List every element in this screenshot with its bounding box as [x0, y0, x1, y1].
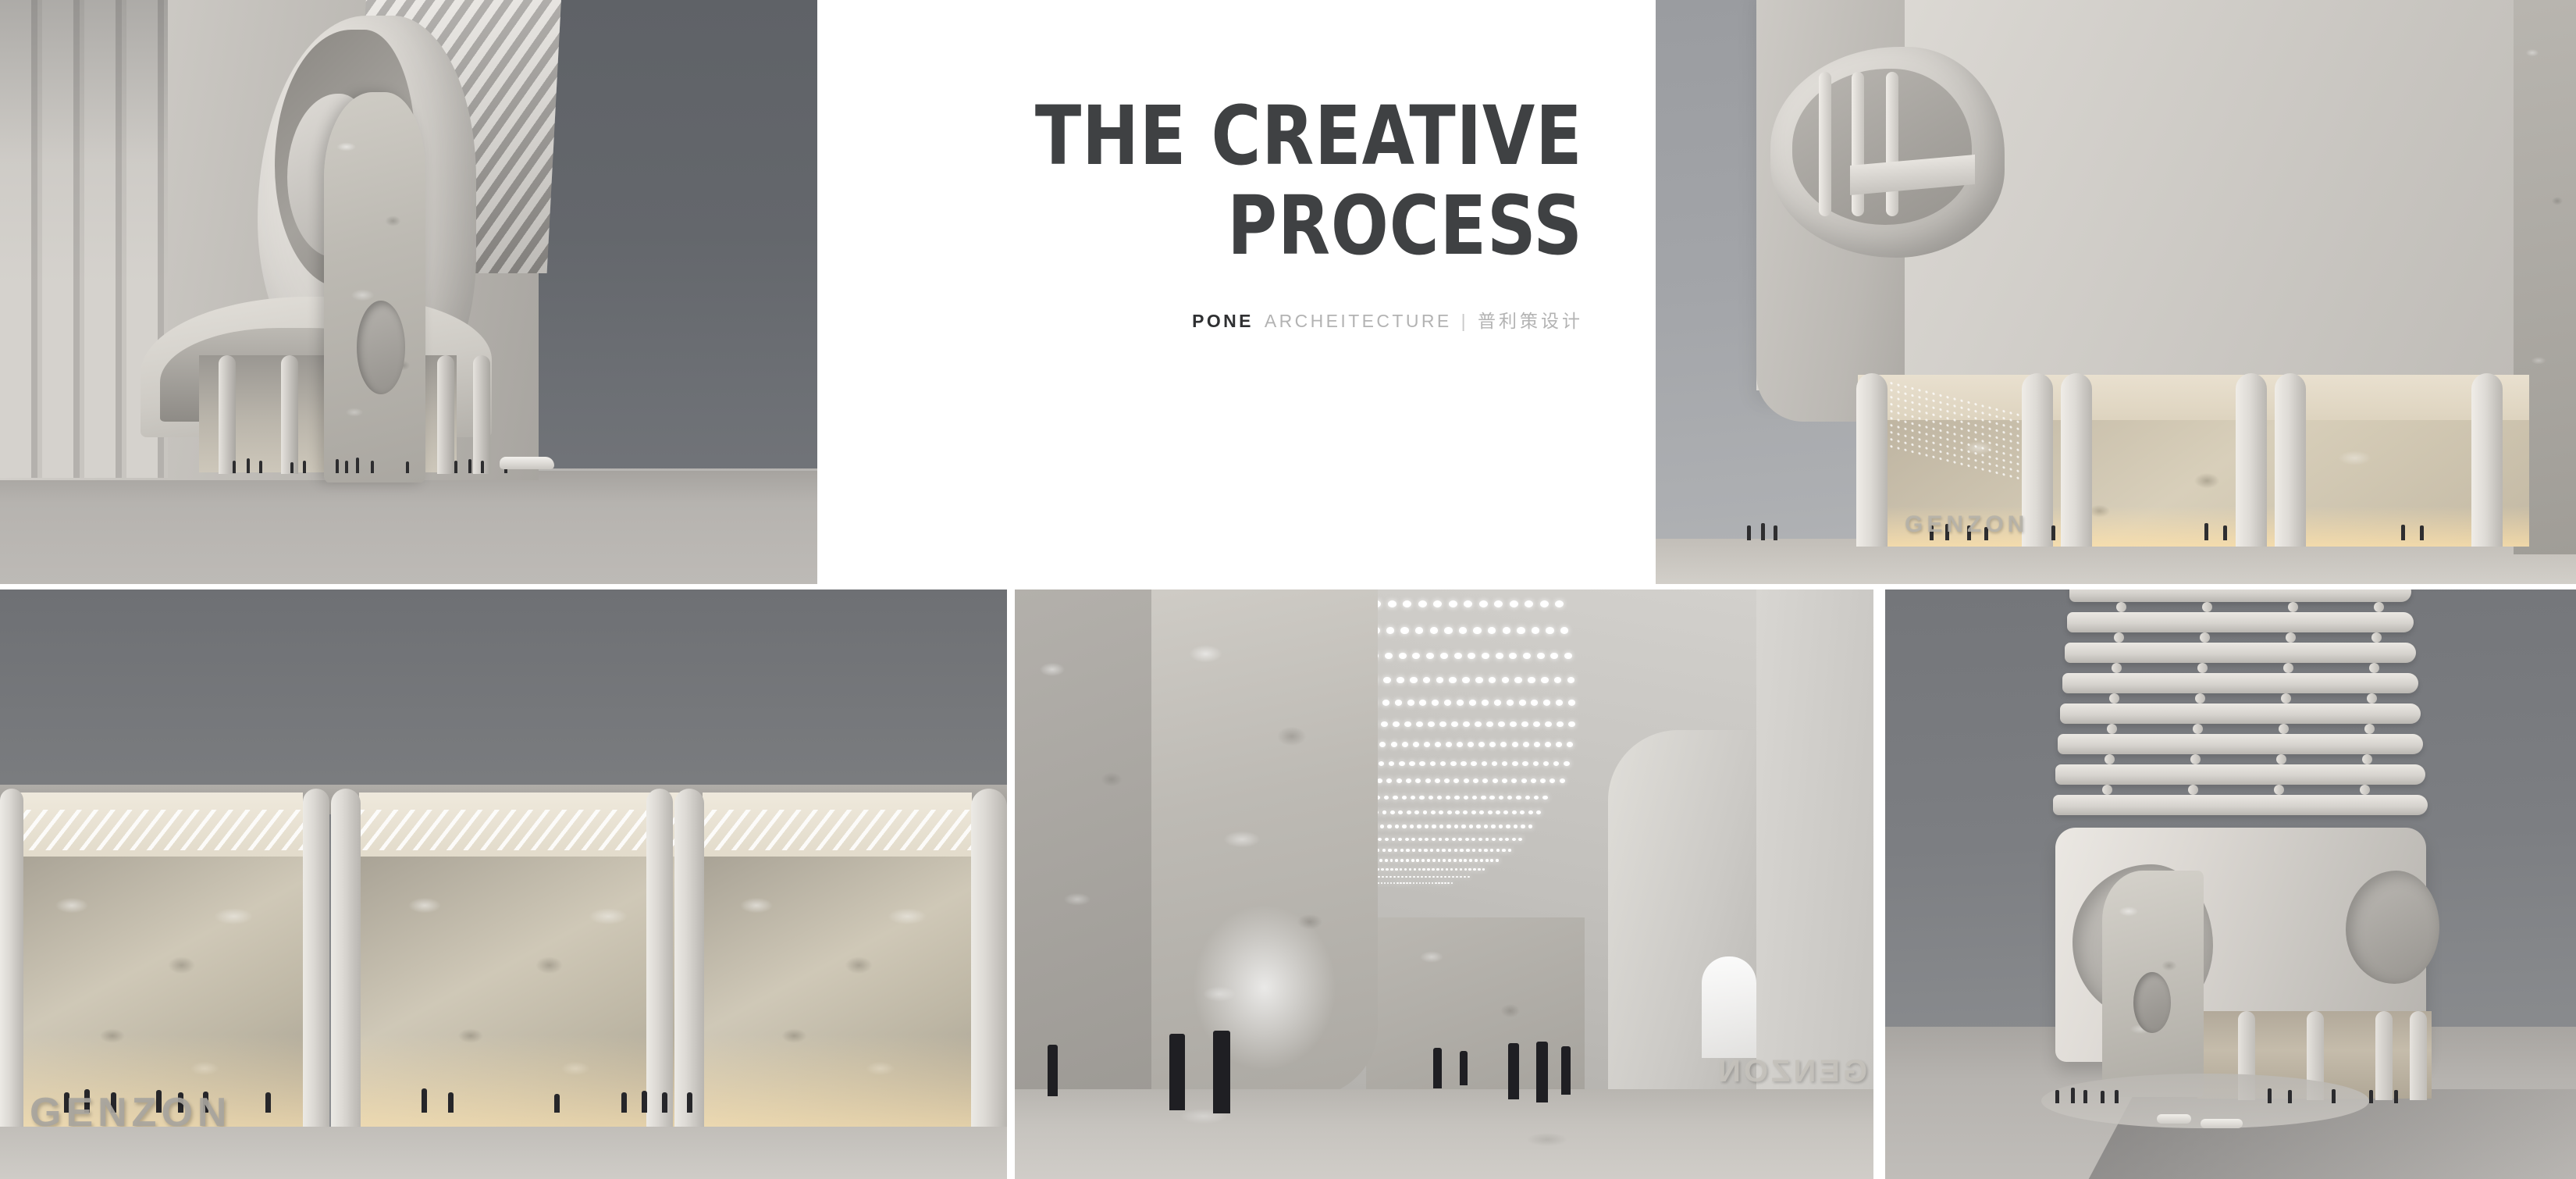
led-slot-lights: [703, 810, 972, 850]
panel-tower-facade-with-vertical-fins[interactable]: [0, 0, 818, 584]
slab-column: [2202, 602, 2212, 612]
slab-column: [2105, 754, 2115, 764]
slab-column: [2188, 785, 2198, 795]
vehicle: [500, 457, 554, 469]
lobby-bay: [703, 793, 972, 1128]
page-title-line-2: PROCESS: [1227, 183, 1583, 269]
scale-figures-group: [1733, 515, 2514, 540]
slab-column: [2195, 693, 2205, 703]
floor-slab: [2060, 703, 2421, 724]
slab-column: [2190, 754, 2201, 764]
slab-column: [2362, 754, 2372, 764]
elliptical-void: [2133, 972, 2171, 1033]
stone-blade-pier: [324, 92, 425, 483]
facade-pier: [674, 789, 704, 1131]
slab-column: [2109, 693, 2119, 703]
slab-column: [2102, 785, 2112, 795]
led-slot-lights: [14, 810, 303, 850]
aperture-fin: [1886, 72, 1898, 216]
page-title-line-1: THE CREATIVE: [1035, 94, 1583, 179]
plaza-bench: [2201, 1119, 2243, 1128]
led-slot-lights: [359, 810, 687, 850]
panel-interior-lobby-with-ceiling-light-grid[interactable]: GENZON: [1015, 589, 1873, 1179]
floor-slab: [2067, 612, 2414, 632]
slab-column: [2193, 724, 2203, 734]
slide-canvas: GENZON: [0, 0, 2576, 1179]
lobby-bay: [14, 793, 303, 1128]
floor-slab: [2055, 764, 2425, 785]
slab-column: [2200, 632, 2210, 643]
slab-column: [2360, 785, 2370, 795]
slab-column: [2288, 602, 2298, 612]
facade-pier: [971, 789, 1007, 1131]
facade-pier: [646, 789, 673, 1131]
floor-slab: [2058, 734, 2423, 754]
left-stone-wall: [1015, 589, 1171, 1089]
floor-slab: [2062, 673, 2418, 693]
subtitle-row: PONEARCHEITECTURE|普利策设计: [1192, 306, 1583, 333]
genzon-signage: GENZON: [1905, 511, 2028, 538]
facade-pier: [331, 789, 361, 1131]
slab-column: [2274, 785, 2284, 795]
discipline-label: ARCHEITECTURE: [1265, 311, 1452, 331]
floor-slab: [2069, 589, 2411, 602]
slab-column: [2114, 632, 2124, 643]
slab-column: [2374, 602, 2384, 612]
panel-corner-tower-with-stacked-slabs[interactable]: [1885, 589, 2576, 1179]
plaza-bench: [2157, 1114, 2191, 1124]
lobby-bay: [359, 793, 687, 1128]
title-card: THE CREATIVE PROCESS PONEARCHEITECTURE|普…: [818, 0, 1655, 584]
subtitle-separator: |: [1461, 311, 1468, 331]
ground-plane: [0, 468, 818, 584]
slab-column: [2279, 724, 2289, 734]
ground-plane: [0, 1127, 1007, 1179]
slab-column: [2369, 663, 2379, 673]
facade-pier: [0, 789, 23, 1131]
sunlight-patch: [1702, 956, 1756, 1058]
slab-column: [2107, 724, 2117, 734]
genzon-signage: GENZON: [1715, 1054, 1867, 1089]
row-divider: [0, 584, 2576, 589]
panel-three-bay-lobby-facade[interactable]: GENZON: [0, 589, 1007, 1179]
slab-column: [2197, 663, 2208, 673]
chinese-brand-name: 普利策设计: [1478, 312, 1583, 332]
brand-name: PONE: [1192, 311, 1254, 331]
scale-figures-group: [2033, 1080, 2471, 1103]
panel-tower-lens-aperture-and-lit-colonnade[interactable]: GENZON: [1655, 0, 2576, 584]
scale-figures-group: [211, 437, 539, 473]
slab-column: [2367, 693, 2377, 703]
floor-slab: [2065, 643, 2416, 663]
slab-column: [2281, 693, 2291, 703]
aperture-fin: [1819, 72, 1831, 216]
column-divider: [1007, 584, 1015, 1179]
slab-column: [2286, 632, 2296, 643]
column-divider: [1873, 584, 1885, 1179]
stacked-floor-slabs: [2053, 589, 2428, 824]
slab-column: [2116, 602, 2126, 612]
podium-void-right: [2346, 871, 2439, 984]
right-wall: [1756, 589, 1873, 1105]
floor-slab: [2053, 795, 2428, 815]
elliptical-void: [357, 301, 405, 394]
slab-column: [2364, 724, 2375, 734]
slab-column: [2276, 754, 2286, 764]
slab-column: [2371, 632, 2382, 643]
slab-column: [2283, 663, 2293, 673]
facade-pier: [303, 789, 329, 1131]
slab-column: [2112, 663, 2122, 673]
